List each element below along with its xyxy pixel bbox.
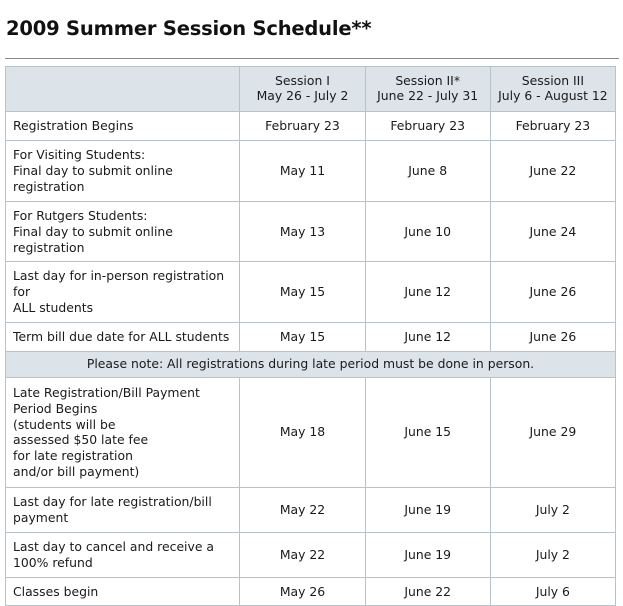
table-row: For Rutgers Students: Final day to submi… [6, 201, 616, 262]
row-label-line: For Visiting Students: [13, 147, 233, 163]
row-value-session-1: May 15 [240, 323, 365, 352]
row-value-session-3: July 2 [490, 488, 615, 533]
row-label: Classes begin [6, 577, 240, 606]
header-row: Session I May 26 - July 2 Session II* Ju… [6, 66, 616, 112]
late-period-note: Please note: All registrations during la… [6, 351, 616, 377]
row-value-session-2: June 19 [365, 488, 490, 533]
row-value-session-3: July 6 [490, 577, 615, 606]
row-value-session-1: May 15 [240, 262, 365, 323]
table-row: Classes begin May 26 June 22 July 6 [6, 577, 616, 606]
row-label-line: Last day for late registration/bill [13, 494, 233, 510]
row-value-session-2: February 23 [365, 112, 490, 141]
table-row: Term bill due date for ALL students May … [6, 323, 616, 352]
row-value-session-2: June 22 [365, 577, 490, 606]
table-header: Session I May 26 - July 2 Session II* Ju… [6, 66, 616, 112]
row-label: Term bill due date for ALL students [6, 323, 240, 352]
row-label-line: Final day to submit online registration [13, 163, 233, 195]
session-1-name: Session I [244, 73, 360, 89]
row-value-session-2: June 19 [365, 532, 490, 577]
table-row: Last day for in-person registration for … [6, 262, 616, 323]
row-value-session-3: June 26 [490, 262, 615, 323]
row-value-session-2: June 12 [365, 323, 490, 352]
row-label-line: payment [13, 510, 233, 526]
row-label: Last day to cancel and receive a 100% re… [6, 532, 240, 577]
row-label-line: Final day to submit online registration [13, 224, 233, 256]
title-divider [5, 58, 619, 59]
row-label-line: Term bill due date for ALL students [13, 329, 233, 345]
row-value-session-1: May 22 [240, 488, 365, 533]
table-body: Registration Begins February 23 February… [6, 112, 616, 606]
summer-session-schedule-table: Session I May 26 - July 2 Session II* Ju… [5, 66, 616, 606]
table-row: Last day to cancel and receive a 100% re… [6, 532, 616, 577]
row-label-line: Late Registration/Bill Payment [13, 385, 233, 401]
row-label: For Rutgers Students: Final day to submi… [6, 201, 240, 262]
row-value-session-3: February 23 [490, 112, 615, 141]
row-label-line: and/or bill payment) [13, 464, 233, 480]
column-header-session-1: Session I May 26 - July 2 [240, 66, 365, 112]
schedule-table-container: Session I May 26 - July 2 Session II* Ju… [5, 66, 616, 606]
row-label: Last day for late registration/bill paym… [6, 488, 240, 533]
row-label-line: Last day to cancel and receive a [13, 539, 233, 555]
row-value-session-1: May 11 [240, 141, 365, 202]
table-row: Registration Begins February 23 February… [6, 112, 616, 141]
row-label-line: ALL students [13, 300, 233, 316]
page-title: 2009 Summer Session Schedule** [0, 13, 623, 44]
row-label-line: Classes begin [13, 584, 233, 600]
row-label: Late Registration/Bill Payment Period Be… [6, 377, 240, 487]
row-value-session-1: May 26 [240, 577, 365, 606]
table-note-row: Please note: All registrations during la… [6, 351, 616, 377]
table-row: Last day for late registration/bill paym… [6, 488, 616, 533]
row-label-line: Registration Begins [13, 118, 233, 134]
row-label: Last day for in-person registration for … [6, 262, 240, 323]
row-label-line: 100% refund [13, 555, 233, 571]
row-value-session-1: February 23 [240, 112, 365, 141]
column-header-blank [6, 66, 240, 112]
session-1-dates: May 26 - July 2 [244, 88, 360, 104]
column-header-session-3: Session III July 6 - August 12 [490, 66, 615, 112]
row-value-session-2: June 12 [365, 262, 490, 323]
table-row: For Visiting Students: Final day to subm… [6, 141, 616, 202]
session-2-dates: June 22 - July 31 [370, 88, 486, 104]
session-2-name: Session II* [370, 73, 486, 89]
row-label-line: assessed $50 late fee [13, 432, 233, 448]
schedule-page: 2009 Summer Session Schedule** Session I… [0, 13, 623, 490]
row-label-line: Period Begins [13, 401, 233, 417]
row-value-session-3: June 26 [490, 323, 615, 352]
session-3-name: Session III [495, 73, 611, 89]
row-value-session-2: June 8 [365, 141, 490, 202]
row-value-session-1: May 13 [240, 201, 365, 262]
row-value-session-3: June 29 [490, 377, 615, 487]
row-label-line: (students will be [13, 417, 233, 433]
row-label: For Visiting Students: Final day to subm… [6, 141, 240, 202]
row-value-session-1: May 22 [240, 532, 365, 577]
column-header-session-2: Session II* June 22 - July 31 [365, 66, 490, 112]
row-value-session-1: May 18 [240, 377, 365, 487]
table-row: Late Registration/Bill Payment Period Be… [6, 377, 616, 487]
row-value-session-3: June 24 [490, 201, 615, 262]
row-label-line: For Rutgers Students: [13, 208, 233, 224]
row-label: Registration Begins [6, 112, 240, 141]
row-label-line: Last day for in-person registration for [13, 268, 233, 300]
row-value-session-2: June 15 [365, 377, 490, 487]
row-value-session-2: June 10 [365, 201, 490, 262]
row-label-line: for late registration [13, 448, 233, 464]
row-value-session-3: July 2 [490, 532, 615, 577]
session-3-dates: July 6 - August 12 [495, 88, 611, 104]
row-value-session-3: June 22 [490, 141, 615, 202]
